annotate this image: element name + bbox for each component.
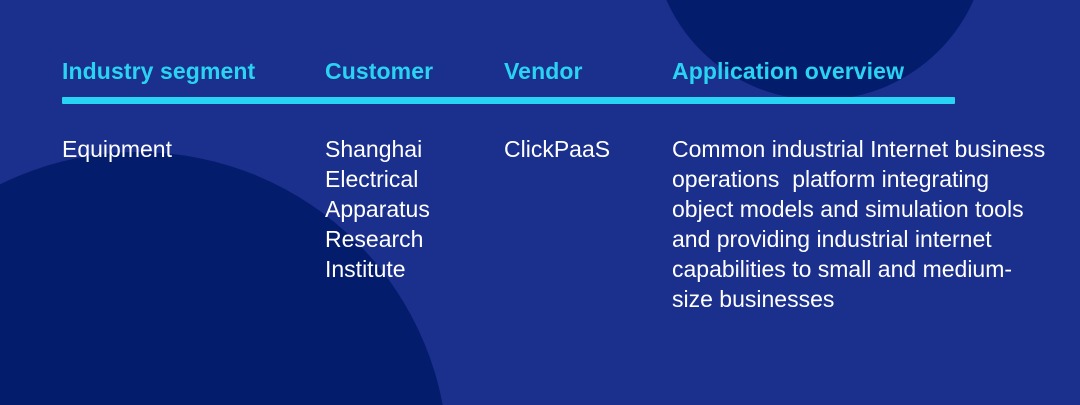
slide-canvas: Industry segment Customer Vendor Applica… [0, 0, 1080, 405]
column-header-application-overview: Application overview [672, 56, 1052, 86]
cell-vendor: ClickPaaS [504, 134, 664, 164]
cell-application-overview: Common industrial Internet business oper… [672, 134, 1052, 314]
column-header-customer: Customer [325, 56, 495, 86]
column-header-industry-segment: Industry segment [62, 56, 312, 86]
cell-customer: Shanghai Electrical Apparatus Research I… [325, 134, 495, 284]
column-header-vendor: Vendor [504, 56, 664, 86]
header-underline-rule [62, 97, 955, 104]
cell-industry-segment: Equipment [62, 134, 312, 164]
comparison-table: Industry segment Customer Vendor Applica… [0, 0, 1080, 405]
table-header-row: Industry segment Customer Vendor Applica… [0, 56, 1080, 90]
